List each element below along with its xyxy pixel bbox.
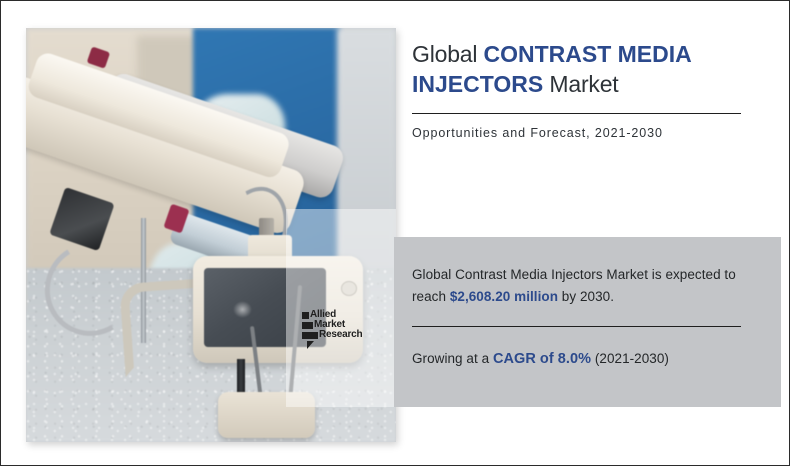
- subtitle: Opportunities and Forecast, 2021-2030: [412, 126, 752, 140]
- report-banner: Allied Market Research Global CONTRAST M…: [0, 0, 790, 466]
- screen-glare: [233, 301, 252, 318]
- watermark-badge: Allied Market Research: [300, 308, 364, 342]
- title-prefix: Global: [412, 41, 483, 67]
- cagr-figure: CAGR of 8.0%: [493, 351, 591, 367]
- watermark-row-3: Research: [302, 330, 362, 340]
- page-title: Global CONTRAST MEDIA INJECTORS Market: [412, 39, 752, 99]
- stat-panel-content: Global Contrast Media Injectors Market i…: [412, 264, 764, 367]
- allied-market-research-watermark: Allied Market Research: [300, 308, 380, 344]
- watermark-square-icon: [302, 332, 318, 339]
- market-value-figure: $2,608.20 million: [450, 289, 558, 304]
- title-suffix: Market: [543, 71, 618, 97]
- market-value-statement: Global Contrast Media Injectors Market i…: [412, 264, 764, 308]
- watermark-square-icon: [302, 312, 309, 319]
- watermark-line-3: Research: [319, 330, 362, 340]
- title-divider: [412, 113, 741, 114]
- cagr-text-before: Growing at a: [412, 351, 493, 366]
- cagr-text-after: (2021-2030): [591, 351, 669, 366]
- watermark-speech-tail-icon: [307, 341, 314, 349]
- cagr-statement: Growing at a CAGR of 8.0% (2021-2030): [412, 351, 764, 367]
- stat-panel: Global Contrast Media Injectors Market i…: [394, 237, 781, 407]
- watermark-square-icon: [302, 322, 313, 329]
- market-value-text-after: by 2030.: [558, 289, 614, 304]
- title-block: Global CONTRAST MEDIA INJECTORS Market O…: [412, 39, 752, 140]
- stat-panel-divider: [412, 326, 741, 327]
